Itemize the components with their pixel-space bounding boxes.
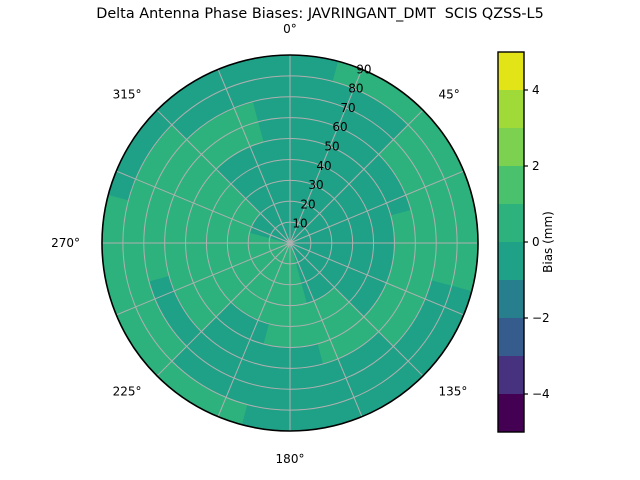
angular-tick-label: 135° xyxy=(438,384,467,398)
radial-tick-label: 50 xyxy=(324,140,339,154)
colorbar-band xyxy=(498,204,524,243)
colorbar-tick-label: 0 xyxy=(532,235,540,249)
colorbar-bands xyxy=(498,52,524,433)
colorbar-band xyxy=(498,318,524,357)
colorbar-band xyxy=(498,356,524,395)
radial-tick-label: 80 xyxy=(348,82,363,96)
colorbar-tick-label: −4 xyxy=(532,387,550,401)
colorbar-band xyxy=(498,394,524,433)
colorbar-band xyxy=(498,280,524,319)
radial-tick-label: 10 xyxy=(292,217,307,231)
radial-tick-label: 60 xyxy=(332,120,347,134)
angular-tick-label: 45° xyxy=(438,88,459,102)
angular-tick-label: 270° xyxy=(51,236,80,250)
colorbar-band xyxy=(498,166,524,205)
radial-tick-label: 20 xyxy=(300,197,315,211)
radial-tick-label: 30 xyxy=(308,178,323,192)
radial-tick-label: 40 xyxy=(316,159,331,173)
angular-tick-label: 315° xyxy=(113,88,142,102)
angular-tick-label: 0° xyxy=(283,22,297,36)
colorbar-band xyxy=(498,90,524,129)
colorbar-svg: 420−2−4 xyxy=(490,0,640,480)
colorbar-band xyxy=(498,52,524,91)
colorbar-band xyxy=(498,128,524,167)
polar-axes: 1020304050607080900°45°90135°180°225°270… xyxy=(0,0,520,480)
colorbar-tick-label: −2 xyxy=(532,311,550,325)
radial-tick-label: 70 xyxy=(340,101,355,115)
polar-grid xyxy=(102,55,478,431)
colorbar-axis-label: Bias (mm) xyxy=(541,211,555,273)
angular-tick-label: 180° xyxy=(276,452,305,466)
angular-tick-label: 225° xyxy=(113,384,142,398)
radial-tick-label: 90 xyxy=(356,62,371,76)
colorbar-tick-label: 4 xyxy=(532,83,540,97)
figure-canvas: Delta Antenna Phase Biases: JAVRINGANT_D… xyxy=(0,0,640,480)
polar-plot-svg: 1020304050607080900°45°90135°180°225°270… xyxy=(0,0,520,480)
colorbar-tick-label: 2 xyxy=(532,159,540,173)
colorbar-band xyxy=(498,242,524,281)
colorbar-axes: 420−2−4 xyxy=(490,0,640,480)
